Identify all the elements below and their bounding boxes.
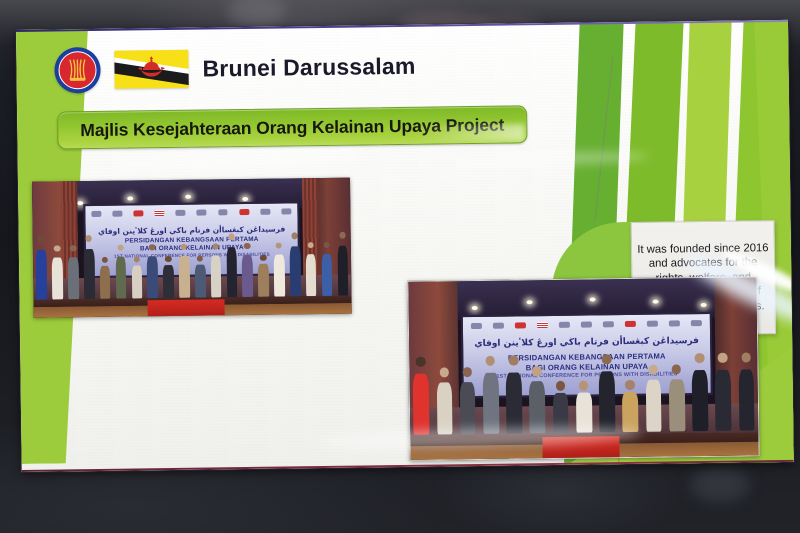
person [52,245,63,300]
surface-glare [448,150,648,168]
asean-emblem [54,47,101,94]
sponsor-logo-row [470,318,702,331]
person [289,233,300,297]
sponsor-logo-row [92,207,292,219]
person [195,255,206,298]
country-title: Brunei Darussalam [202,52,415,82]
person [258,254,269,297]
surface-glare [110,148,360,172]
person [506,356,523,434]
ceiling-light [471,306,477,310]
red-carpet-step [543,436,620,458]
sponsor-logo [559,322,571,329]
person [100,256,111,299]
person [163,256,174,299]
person [692,353,709,431]
sponsor-logo [218,210,228,216]
person [482,356,499,434]
banner-glare [414,124,524,141]
sponsor-logo [176,210,186,216]
sponsor-logo [92,211,102,217]
ceiling-light [185,195,191,199]
person [210,243,221,298]
bezel-reflection-blob [690,468,750,502]
sponsor-logo [492,322,504,329]
brunei-crest-icon [136,54,166,84]
sponsor-logo [239,209,249,215]
auditorium-scene: فرسيداڠن كبڠساأن فرتام باڬي اورڠ كلاٴينن… [32,178,352,318]
person [645,365,662,432]
sponsor-logo [647,320,659,327]
person [147,244,158,299]
sponsor-logo [669,320,681,327]
ceiling-light [527,300,533,304]
person [668,365,685,432]
sponsor-logo [113,211,123,217]
slide-edge-bottom [22,460,794,472]
person [68,245,79,300]
person [131,256,142,299]
photographed-scene: Brunei Darussalam Majlis Kesejahteraan O… [0,0,800,533]
sponsor-logo [603,321,615,328]
sponsor-logo [155,210,165,216]
auditorium-scene: فرسيداڠن كبڠساأن فرتام باڬي اورڠ كلاٴينن… [408,277,758,460]
person [242,242,253,297]
sponsor-logo [625,321,637,328]
person [179,243,190,298]
person [738,353,755,431]
sponsor-logo [514,322,526,329]
sponsor-logo [281,209,291,215]
sponsor-logo [691,320,703,327]
person [36,236,47,300]
photo-conference-group-stage: فرسيداڠن كبڠساأن فرتام باڬي اورڠ كلاٴينن… [407,276,759,461]
group-of-people [36,220,349,300]
brunei-flag [114,50,188,89]
ceiling-light [590,297,596,301]
sponsor-logo [581,321,593,328]
sponsor-logo [260,209,270,215]
person [413,357,430,435]
presentation-slide: Brunei Darussalam Majlis Kesejahteraan O… [16,20,794,472]
red-carpet-step [148,299,225,316]
person [459,367,476,434]
person [321,241,332,296]
person [622,380,638,432]
person [529,367,546,434]
project-title-banner: Majlis Kesejahteraan Orang Kelainan Upay… [57,105,527,149]
person [305,242,316,297]
sponsor-logo [536,322,548,329]
asean-emblem-inner [58,51,96,89]
person [226,233,237,297]
person [83,235,94,299]
slide-header: Brunei Darussalam [54,35,555,100]
person [715,353,732,431]
photo-conference-group-wide: فرسيداڠن كبڠساأن فرتام باڬي اورڠ كلاٴينن… [32,178,352,318]
person [599,355,616,433]
person [115,244,126,299]
person [436,368,453,435]
ceiling-light [242,197,248,201]
person [337,232,348,296]
person [576,381,592,433]
sponsor-logo [134,211,144,217]
sponsor-logo [470,323,482,330]
guide-hairline [594,56,613,221]
sponsor-logo [197,210,207,216]
paddy-stalks-icon [66,58,88,82]
group-of-people [413,338,755,435]
person [274,242,285,297]
person [553,381,569,433]
